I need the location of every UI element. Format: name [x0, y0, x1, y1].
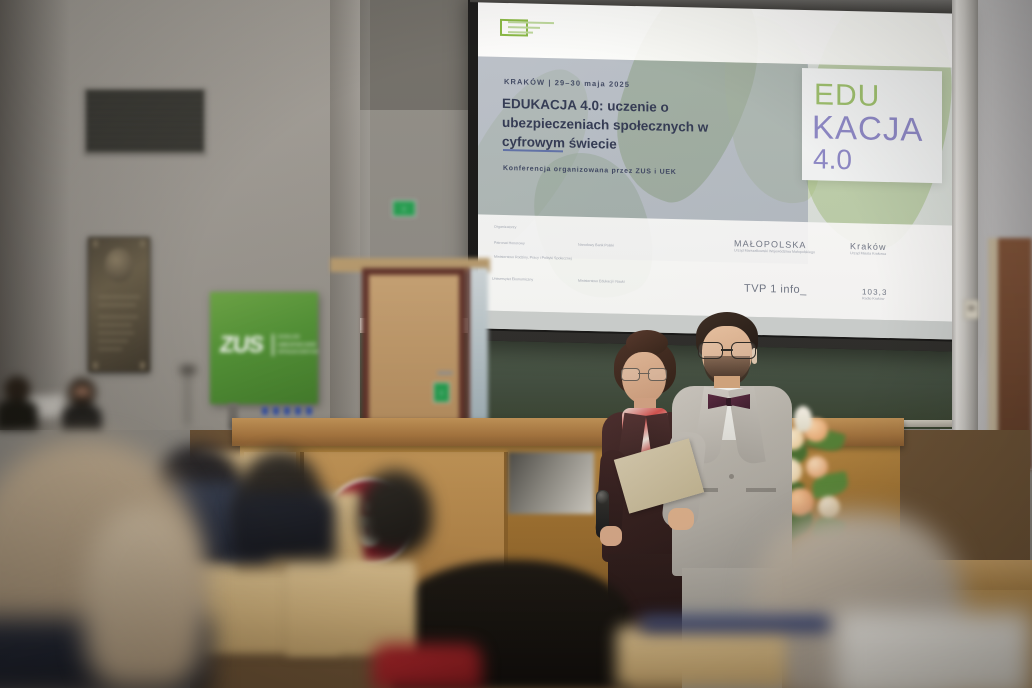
woman-hand: [600, 526, 622, 546]
plaque-hook-left: [93, 240, 98, 247]
emergency-exit-sign: ↑: [392, 200, 416, 217]
audience-person-torso-2: [232, 492, 336, 560]
back-row-person: [0, 376, 36, 430]
technician-person: [60, 378, 104, 430]
audience-foreground-head-2: [84, 506, 204, 688]
partner-1-name: Narodowy Bank Polski: [578, 243, 640, 249]
zus-banner-lines: ZAKŁAD UBEZPIECZEŃ SPOŁECZNYCH: [278, 333, 316, 356]
audience-red-clothing: [372, 644, 482, 688]
door-handle[interactable]: [437, 371, 453, 375]
partner-heading: Organizatorzy: [494, 225, 564, 232]
partner-7-name: Radio Kraków: [862, 296, 932, 303]
man-jacket-button: [729, 474, 734, 479]
door-sidelight-window: [466, 268, 488, 428]
bow-tie: [708, 394, 750, 409]
zus-banner-line-1: ZAKŁAD: [278, 333, 316, 341]
partner-6-name: TVP 1 info_: [744, 283, 834, 297]
partner-5-sub: [656, 281, 734, 283]
partner-2-name: Ministerstwo Edukacji i Nauki: [578, 279, 638, 285]
emergency-exit-sign-lower: ↑: [433, 382, 450, 403]
partner-3-sub: Urząd Marszałkowski Województwa Małopols…: [734, 248, 834, 255]
seat-front-center: [286, 560, 416, 656]
seat-blue-trim: [640, 616, 830, 632]
zus-rollup-banner: ZUS ZAKŁAD UBEZPIECZEŃ SPOŁECZNYCH: [210, 292, 318, 404]
zus-banner-line-3: SPOŁECZNYCH: [278, 348, 316, 356]
podium-control-knobs[interactable]: [262, 406, 326, 416]
plaque-hook-br: [140, 362, 145, 369]
gooseneck-microphone-icon: [180, 366, 196, 374]
plaque-hook-bl: [93, 362, 98, 369]
slide-partner-logo-strip: Organizatorzy Patronat Honorowy Minister…: [478, 214, 956, 321]
microphone-stand: [186, 372, 189, 426]
wall-light-switch[interactable]: [964, 300, 979, 319]
man-hand: [668, 508, 694, 530]
wall-left-shadow: [0, 0, 70, 430]
projection-screen: KRAKÓW | 29–30 maja 2025 EDUKACJA 4.0: u…: [478, 0, 956, 340]
conference-photo-scene: KRAKÓW | 29–30 maja 2025 EDUKACJA 4.0: u…: [0, 0, 1032, 688]
partner-4-sub: Urząd Miasta Krakowa: [850, 251, 942, 258]
slide-title: EDUKACJA 4.0: uczenie o ubezpieczeniach …: [502, 94, 772, 157]
exit-sign-glyph: ↑: [393, 201, 415, 216]
partner-0-sub: Ministerstwo Rodziny, Pracy i Polityki S…: [494, 255, 574, 262]
edukacja-brand-box: EDU KACJA 4.0: [802, 68, 942, 183]
exit-sign-glyph-2: ↑: [434, 383, 449, 402]
side-door[interactable]: [362, 268, 466, 428]
partner-0-name: Patronat Honorowy: [494, 241, 574, 248]
plaque-portrait-relief: [105, 248, 133, 282]
wall-pilaster: [952, 0, 978, 448]
zus-banner-rule: [272, 334, 274, 356]
zus-banner-line-2: UBEZPIECZEŃ: [278, 341, 316, 349]
woman-eyeglasses-icon: [621, 368, 667, 379]
partner-5-name: Uniwersytet Ekonomiczny: [492, 277, 562, 284]
man-pocket-right: [746, 488, 776, 492]
plaque-hook-right: [140, 240, 145, 247]
commemorative-plaque: [88, 237, 150, 372]
seat-front-right: [616, 626, 786, 688]
audience-foreground-light-top: [836, 612, 1032, 688]
slide-header-secondary-logo: [508, 21, 554, 36]
man-eyeglasses-icon: [698, 342, 756, 357]
audience-person-head-3: [358, 470, 432, 554]
zus-banner-logo: ZUS: [219, 332, 268, 356]
podium-glass-inset: [508, 452, 594, 514]
ventilation-grille-icon: [84, 88, 206, 154]
brand-line-version: 4.0: [813, 143, 852, 176]
partner-1-sub: [658, 243, 742, 245]
